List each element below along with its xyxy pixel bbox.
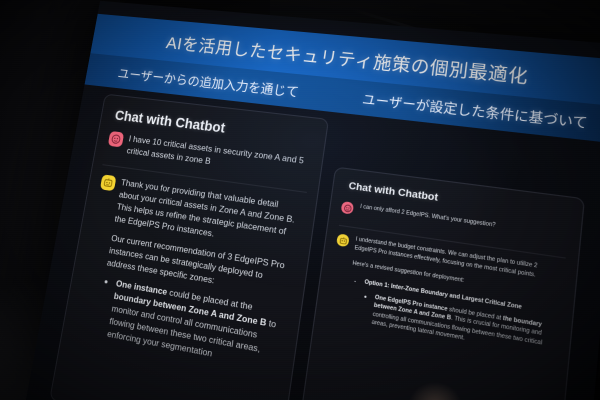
sub-bullet-list: One EdgeIPS Pro instance should be place… [359,292,557,360]
screen-perspective-wrap: AIを活用したセキュリティ施策の個別最適化 ユーザーからの追加入力を通じて ユー… [0,0,600,400]
footer-brand-rest: p the Op [25,303,32,318]
chat-message-user: I have 10 critical assets in security zo… [106,131,308,181]
chat-message-body: I understand the budget constraints. We … [344,236,563,365]
chat-message-text: I have 10 critical assets in security zo… [126,133,308,180]
slide-surface: AIを活用したセキュリティ施策の個別最適化 ユーザーからの追加入力を通じて ユー… [25,1,600,400]
user-face-icon [108,131,125,148]
robot-face-icon [336,233,350,247]
user-face-icon [341,201,354,214]
panel-title-left: Chat with Chatbot [114,108,226,136]
chat-message-bot: Thank you for providing that valuable de… [73,174,301,378]
chat-message-body: Thank you for providing that valuable de… [93,177,301,378]
footer-brand: Keep the Op [25,300,32,318]
chat-panel-right: Chat with Chatbot I can only afford 2 Ed… [295,167,585,400]
robot-face-icon [100,174,117,191]
sub-bullet-item: One EdgeIPS Pro instance should be place… [371,294,557,360]
projected-slide-photo: AIを活用したセキュリティ施策の個別最適化 ユーザーからの追加入力を通じて ユー… [0,0,600,400]
panel-title-right: Chat with Chatbot [348,180,439,204]
